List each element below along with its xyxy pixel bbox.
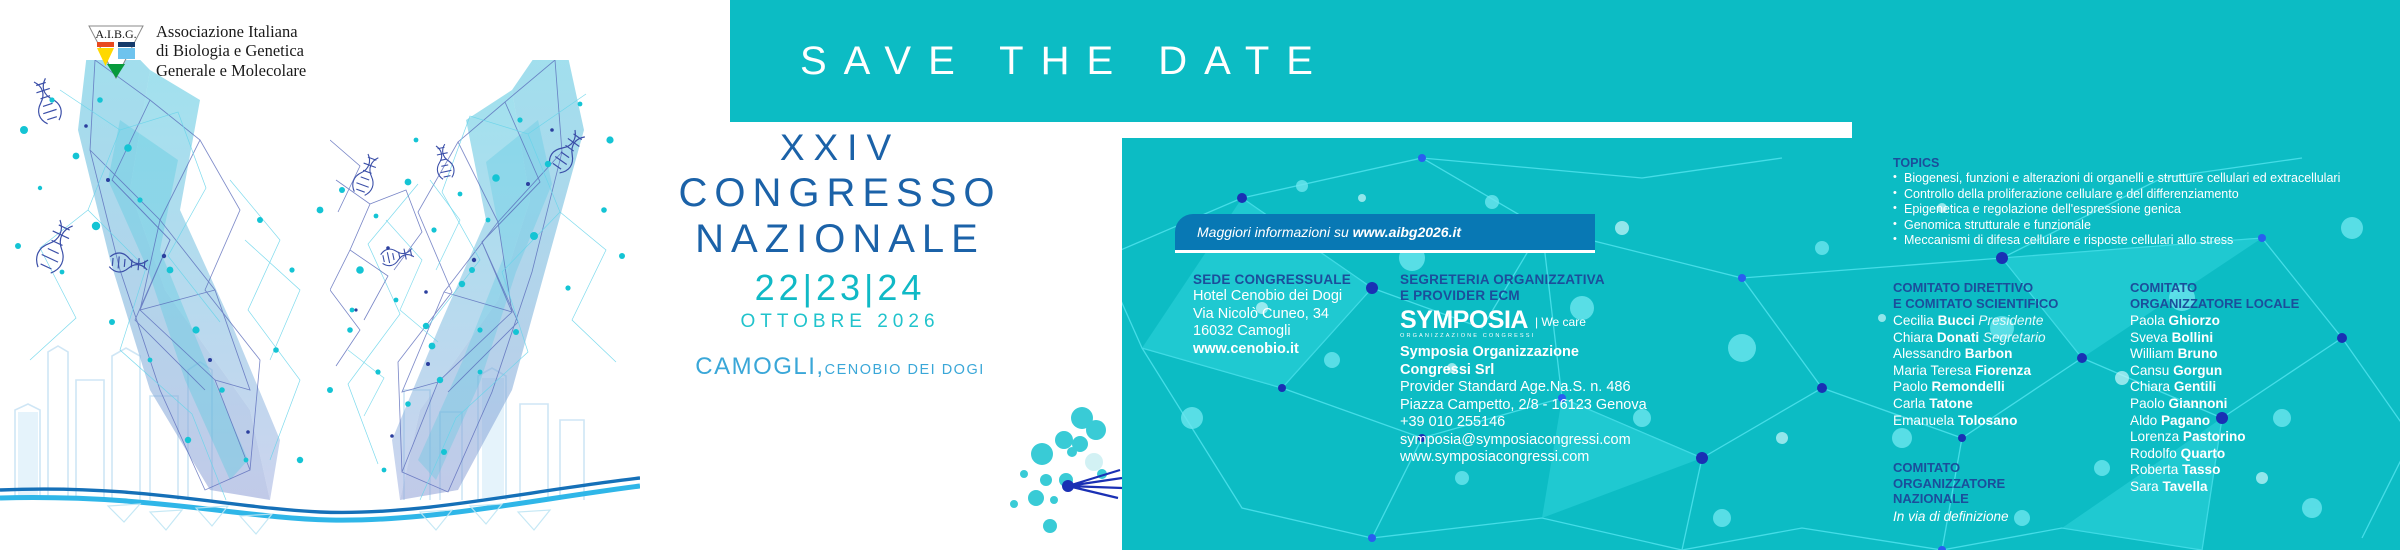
congress-nazionale: NAZIONALE — [630, 216, 1050, 262]
list-item: William Bruno — [2130, 346, 2380, 363]
secretariat-phone: +39 010 255146 — [1400, 414, 1700, 432]
panel-spill-dots — [1010, 400, 1130, 550]
company-line-1: Symposia Organizzazione — [1400, 344, 1700, 362]
list-item: Paolo Remondelli — [1893, 379, 2128, 396]
venue-website[interactable]: www.cenobio.it — [1193, 341, 1393, 359]
venue-line-3: 16032 Camogli — [1193, 323, 1393, 341]
svg-text:A.I.B.G.: A.I.B.G. — [95, 27, 136, 41]
save-the-date-title: SAVE THE DATE — [800, 20, 1700, 102]
list-item: Carla Tatone — [1893, 396, 2128, 413]
symposia-name: SYMPOSIA — [1400, 306, 1528, 334]
secretariat-heading-1: SEGRETERIA ORGANIZZATIVA — [1400, 272, 1700, 288]
ribbon-text: Maggiori informazioni su www.aibg2026.it — [1197, 224, 1461, 240]
congress-edition: XXIV — [630, 126, 1050, 170]
venue-line-2: Via Nicolò Cuneo, 34 — [1193, 306, 1393, 324]
ribbon-prefix: Maggiori informazioni su — [1197, 224, 1353, 240]
scientific-members-list: Cecilia Bucci Presidente Chiara Donati S… — [1893, 313, 2128, 429]
list-item: Controllo della proliferazione cellulare… — [1893, 187, 2393, 203]
congress-word: CONGRESSO — [630, 170, 1050, 216]
secretariat-line-1: Provider Standard Age.Na.S. n. 486 — [1400, 379, 1700, 397]
list-item: Sara Tavella — [2130, 479, 2380, 496]
scientific-heading-2: E COMITATO SCIENTIFICO — [1893, 296, 2128, 312]
aibg-logo: A.I.B.G. Associazione Italiana di Biolog… — [85, 20, 306, 82]
topics-block: TOPICS Biogenesi, funzioni e alterazioni… — [1893, 156, 2393, 249]
venue-line-1: Hotel Cenobio dei Dogi — [1193, 288, 1393, 306]
list-item: Paola Ghiorzo — [2130, 313, 2380, 330]
more-info-ribbon[interactable]: Maggiori informazioni su www.aibg2026.it — [1175, 214, 1595, 250]
list-item: Aldo Pagano — [2130, 413, 2380, 430]
symposia-logo: SYMPOSIA | We care ORGANIZZAZIONE CONGRE… — [1400, 308, 1700, 339]
save-the-date-banner: A.I.B.G. Associazione Italiana di Biolog… — [0, 0, 2400, 550]
symposia-subtitle: ORGANIZZAZIONE CONGRESSI — [1400, 333, 1700, 339]
secretariat-heading-2: E PROVIDER ECM — [1400, 288, 1700, 304]
local-heading-1: COMITATO — [2130, 280, 2380, 296]
ribbon-underline — [1175, 250, 1595, 253]
local-committee-block: COMITATO ORGANIZZATORE LOCALE Paola Ghio… — [2130, 280, 2380, 496]
scientific-committee-block: COMITATO DIRETTIVO E COMITATO SCIENTIFIC… — [1893, 280, 2128, 429]
venue-name: CENOBIO DEI DOGI — [825, 362, 985, 378]
topics-heading: TOPICS — [1893, 156, 2393, 171]
congress-dates: 22|23|24 — [630, 266, 1050, 310]
list-item: Paolo Giannoni — [2130, 396, 2380, 413]
list-item: Cecilia Bucci Presidente — [1893, 313, 2128, 330]
congress-month-year: OTTOBRE 2026 — [630, 310, 1050, 334]
venue-block: SEDE CONGRESSUALE Hotel Cenobio dei Dogi… — [1193, 272, 1393, 358]
symposia-tagline: | We care — [1535, 315, 1586, 332]
local-heading-2: ORGANIZZATORE LOCALE — [2130, 296, 2380, 312]
city-name: CAMOGLI, — [695, 353, 824, 380]
ribbon-url[interactable]: www.aibg2026.it — [1353, 224, 1461, 240]
congress-location: CAMOGLI,CENOBIO DEI DOGI — [630, 352, 1050, 385]
company-line-2: Congressi Srl — [1400, 362, 1700, 380]
national-committee-block: COMITATO ORGANIZZATORE NAZIONALE In via … — [1893, 460, 2128, 525]
list-item: Cansu Gorgun — [2130, 363, 2380, 380]
list-item: Alessandro Barbon — [1893, 346, 2128, 363]
venue-heading: SEDE CONGRESSUALE — [1193, 272, 1393, 288]
logo-line-1: Associazione Italiana — [156, 22, 306, 42]
logo-line-2: di Biologia e Genetica — [156, 41, 306, 61]
secretariat-website[interactable]: www.symposiacongressi.com — [1400, 449, 1700, 467]
list-item: Emanuela Tolosano — [1893, 413, 2128, 430]
national-heading-3: NAZIONALE — [1893, 491, 2128, 507]
scientific-heading-1: COMITATO DIRETTIVO — [1893, 280, 2128, 296]
national-heading-2: ORGANIZZATORE — [1893, 476, 2128, 492]
list-item: Maria Teresa Fiorenza — [1893, 363, 2128, 380]
list-item: Lorenza Pastorino — [2130, 429, 2380, 446]
symposia-wordmark: SYMPOSIA — [1400, 308, 1528, 332]
secretariat-line-2: Piazza Campetto, 2/8 - 16123 Genova — [1400, 397, 1700, 415]
secretariat-block: SEGRETERIA ORGANIZZATIVA E PROVIDER ECM … — [1400, 272, 1700, 467]
aibg-triangle-icon: A.I.B.G. — [85, 20, 147, 82]
logo-line-3: Generale e Molecolare — [156, 61, 306, 81]
list-item: Genomica strutturale e funzionale — [1893, 218, 2393, 234]
list-item: Roberta Tasso — [2130, 462, 2380, 479]
list-item: Biogenesi, funzioni e alterazioni di org… — [1893, 171, 2393, 187]
list-item: Chiara Donati Segretario — [1893, 330, 2128, 347]
white-notch — [1730, 122, 1852, 138]
national-status: In via di definizione — [1893, 509, 2128, 526]
list-item: Chiara Gentili — [2130, 379, 2380, 396]
dna-particles-decoration — [330, 120, 660, 420]
list-item: Epigenetica e regolazione dell'espressio… — [1893, 202, 2393, 218]
list-item: Meccanismi di difesa cellulare e rispost… — [1893, 233, 2393, 249]
topics-list: Biogenesi, funzioni e alterazioni di org… — [1893, 171, 2393, 249]
list-item: Sveva Bollini — [2130, 330, 2380, 347]
congress-title-block: XXIV CONGRESSO NAZIONALE 22|23|24 OTTOBR… — [630, 126, 1050, 385]
secretariat-email[interactable]: symposia@symposiacongressi.com — [1400, 432, 1700, 450]
list-item: Rodolfo Quarto — [2130, 446, 2380, 463]
local-members-list: Paola Ghiorzo Sveva Bollini William Brun… — [2130, 313, 2380, 496]
national-heading-1: COMITATO — [1893, 460, 2128, 476]
